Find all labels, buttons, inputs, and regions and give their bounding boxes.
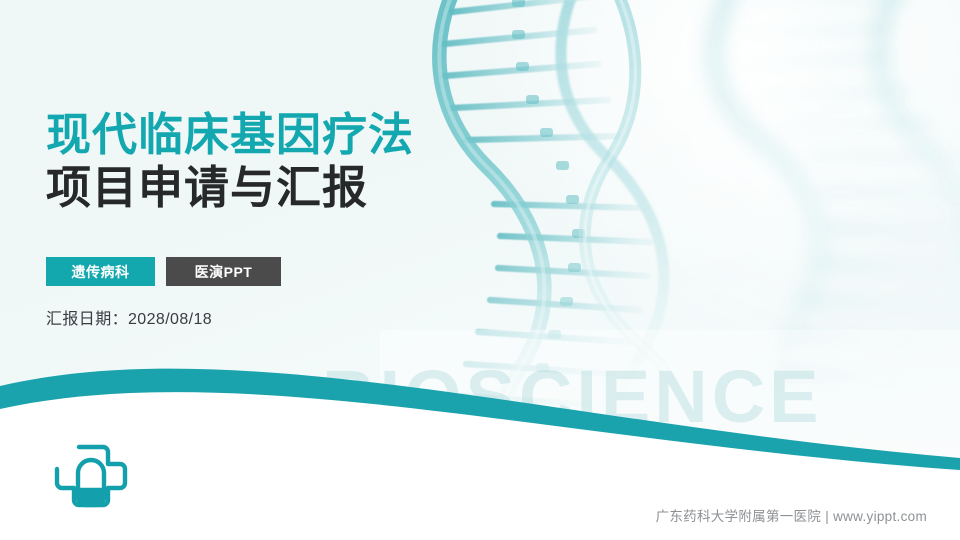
title-line-1: 现代临床基因疗法 xyxy=(46,108,414,161)
title-line-2: 项目申请与汇报 xyxy=(46,161,414,214)
page-title: 现代临床基因疗法 项目申请与汇报 xyxy=(46,108,414,214)
medical-cross-capsule-icon xyxy=(52,437,130,515)
badge-department: 遗传病科 xyxy=(46,257,155,286)
report-date: 汇报日期：2028/08/18 xyxy=(46,305,212,329)
footer-credit: 广东药科大学附属第一医院 | www.yippt.com xyxy=(656,505,927,525)
badge-row: 遗传病科 医演PPT xyxy=(46,257,281,286)
presentation-slide: BIOSCIENCE 现代临床基因疗法 项目申请与汇报 遗传病科 医演PPT 汇… xyxy=(0,0,960,540)
badge-brand: 医演PPT xyxy=(166,257,281,286)
